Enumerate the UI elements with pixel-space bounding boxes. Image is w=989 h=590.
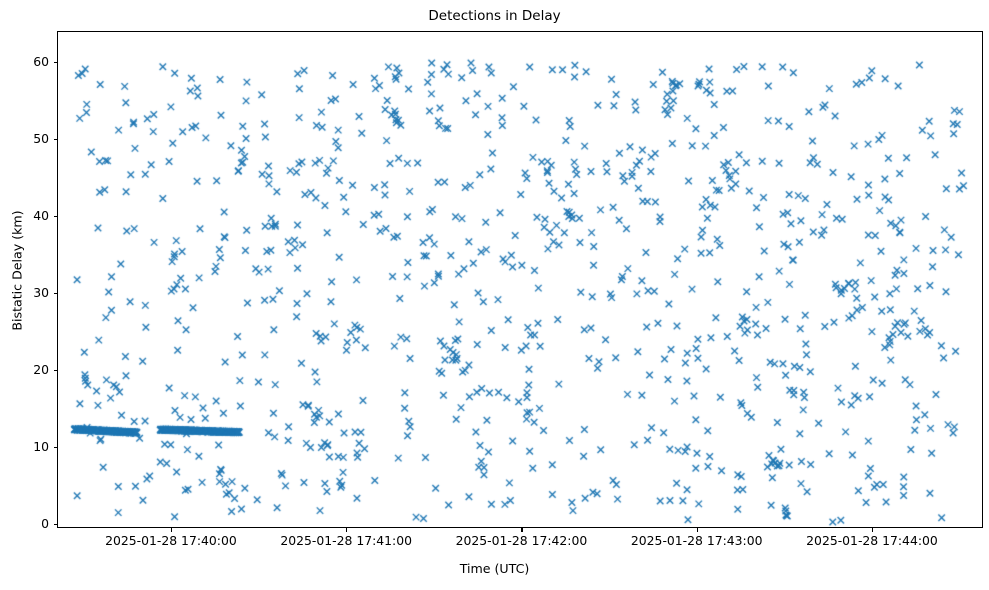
x-tick-label: 2025-01-28 17:43:00 bbox=[607, 534, 787, 548]
x-tick-label: 2025-01-28 17:42:00 bbox=[431, 534, 611, 548]
x-tick-mark bbox=[171, 528, 172, 532]
y-axis-label: Bistatic Delay (km) bbox=[10, 171, 25, 371]
x-tick-label: 2025-01-28 17:44:00 bbox=[782, 534, 962, 548]
x-tick-label: 2025-01-28 17:40:00 bbox=[81, 534, 261, 548]
x-axis-label: Time (UTC) bbox=[0, 561, 989, 576]
x-tick-mark bbox=[521, 528, 522, 532]
x-tick-mark bbox=[346, 528, 347, 532]
x-tick-mark bbox=[872, 528, 873, 532]
x-axis-tick-labels: 2025-01-28 17:40:002025-01-28 17:41:0020… bbox=[0, 0, 989, 590]
x-tick-mark bbox=[697, 528, 698, 532]
figure-canvas: Detections in Delay 0102030405060 2025-0… bbox=[0, 0, 989, 590]
x-tick-label: 2025-01-28 17:41:00 bbox=[256, 534, 436, 548]
